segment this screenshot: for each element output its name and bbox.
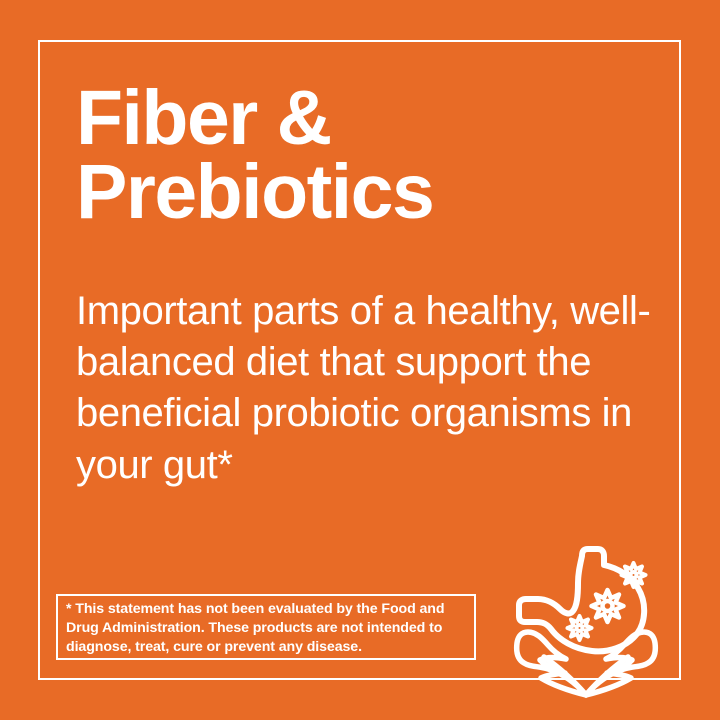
fda-disclaimer-text: * This statement has not been evaluated … bbox=[66, 600, 470, 657]
page-title: Fiber & Prebiotics bbox=[76, 82, 636, 230]
leaf-left bbox=[517, 632, 586, 695]
card-content: Fiber & Prebiotics Important parts of a … bbox=[0, 0, 720, 720]
microbe-large bbox=[592, 590, 624, 622]
leaf-right bbox=[586, 632, 655, 695]
stomach-with-microbes-on-leaves-icon bbox=[486, 543, 686, 703]
microbe-small-lower bbox=[568, 616, 592, 640]
fiber-prebiotics-card: Fiber & Prebiotics Important parts of a … bbox=[0, 0, 720, 720]
fda-disclaimer-box: * This statement has not been evaluated … bbox=[56, 594, 476, 660]
subhead-description: Important parts of a healthy, well-balan… bbox=[76, 286, 676, 491]
microbe-small-upper bbox=[622, 563, 646, 587]
